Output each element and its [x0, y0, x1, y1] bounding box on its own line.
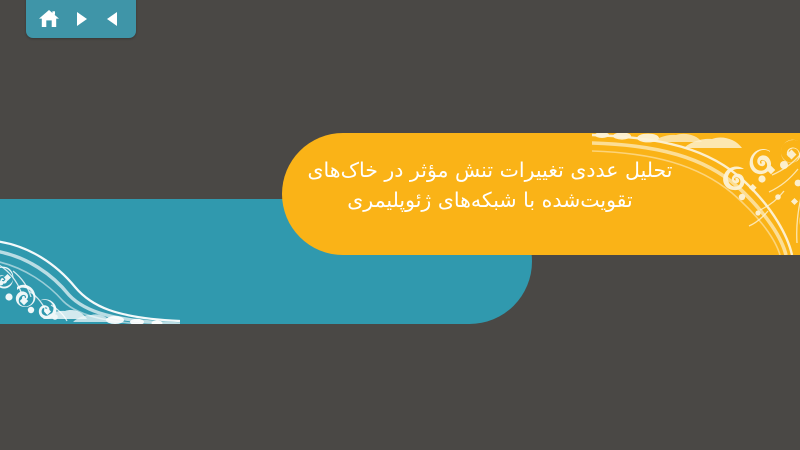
previous-slide-button[interactable]: [100, 7, 126, 31]
triangle-right-icon: [72, 10, 90, 28]
home-icon: [38, 9, 60, 29]
slide-title-line-1: تحلیل عددی تغییرات تنش مؤثر در خاک‌های: [290, 155, 690, 185]
teal-arabesque-ornament: [0, 199, 180, 324]
next-slide-button[interactable]: [68, 7, 94, 31]
navigation-bar: [26, 0, 136, 38]
presentation-slide: تحلیل عددی تغییرات تنش مؤثر در خاک‌های ت…: [0, 0, 800, 450]
triangle-left-icon: [104, 10, 122, 28]
slide-title: تحلیل عددی تغییرات تنش مؤثر در خاک‌های ت…: [290, 155, 690, 215]
home-button[interactable]: [36, 7, 62, 31]
slide-title-line-2: تقویت‌شده با شبکه‌های ژئوپلیمری: [290, 185, 690, 215]
